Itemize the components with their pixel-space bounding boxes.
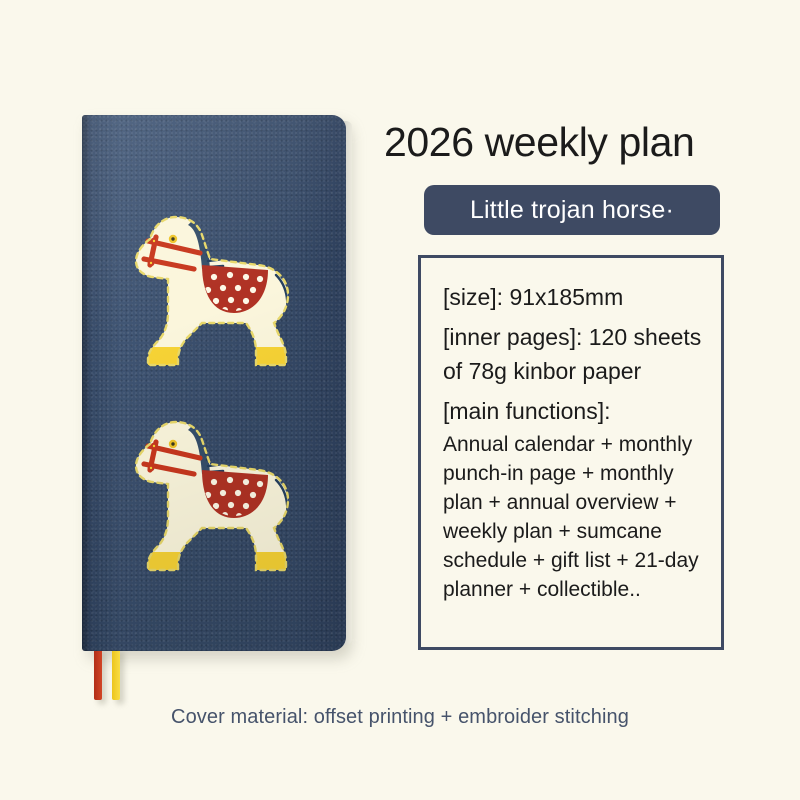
spec-size-line: [size]: 91x185mm: [443, 280, 703, 314]
spec-main-functions-label: [main functions]:: [443, 394, 703, 428]
page-title: 2026 weekly plan: [384, 118, 774, 166]
subtitle-badge: Little trojan horse·: [424, 185, 720, 235]
spec-main-functions-body: Annual calendar + monthly punch-in page …: [443, 430, 703, 604]
red-bookmark-ribbon: [94, 648, 102, 700]
denim-cover: [82, 115, 346, 651]
cover-lighting-overlay: [82, 115, 346, 651]
yellow-bookmark-ribbon: [112, 648, 120, 700]
footer-caption: Cover material: offset printing + embroi…: [0, 706, 800, 729]
product-image-canvas: 2026 weekly plan Little trojan horse· [s…: [0, 0, 800, 800]
subtitle-badge-label: Little trojan horse·: [470, 196, 674, 225]
spec-inner-pages-line: [inner pages]: 120 sheets of 78g kinbor …: [443, 320, 703, 388]
notebook-product-photo: [82, 115, 346, 651]
specifications-box: [size]: 91x185mm [inner pages]: 120 shee…: [418, 255, 724, 650]
